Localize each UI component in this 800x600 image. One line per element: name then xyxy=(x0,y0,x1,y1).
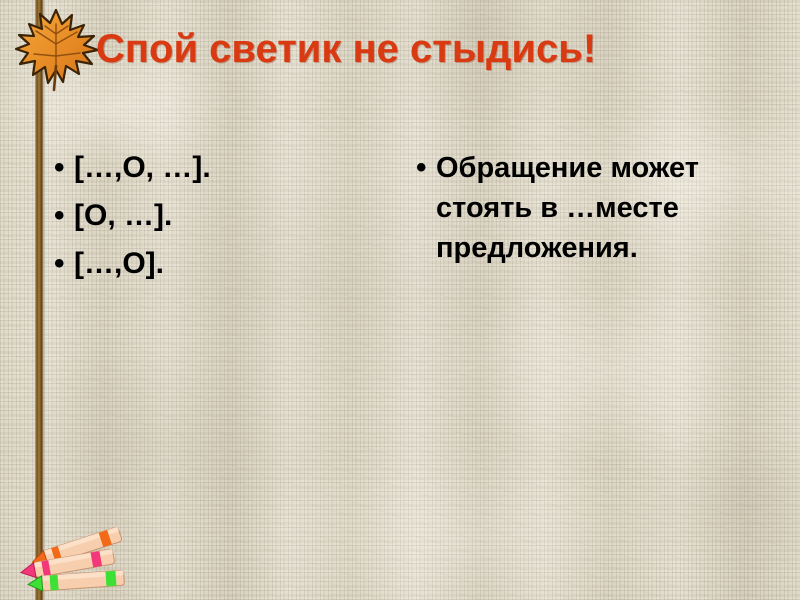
slide-canvas: Спой светик не стыдись! […,О, …]. [О, …]… xyxy=(0,0,800,600)
list-item: […,О]. xyxy=(52,244,382,284)
list-item: Обращение может стоять в …месте предложе… xyxy=(414,148,774,268)
list-item: [О, …]. xyxy=(52,196,382,236)
right-bullet-list: Обращение может стоять в …месте предложе… xyxy=(414,148,774,276)
list-item: […,О, …]. xyxy=(52,148,382,188)
maple-leaf-icon xyxy=(14,4,100,92)
left-bullet-list: […,О, …]. [О, …]. […,О]. xyxy=(52,148,382,292)
slide-title: Спой светик не стыдись! xyxy=(96,26,756,72)
crayons-icon xyxy=(6,510,156,600)
